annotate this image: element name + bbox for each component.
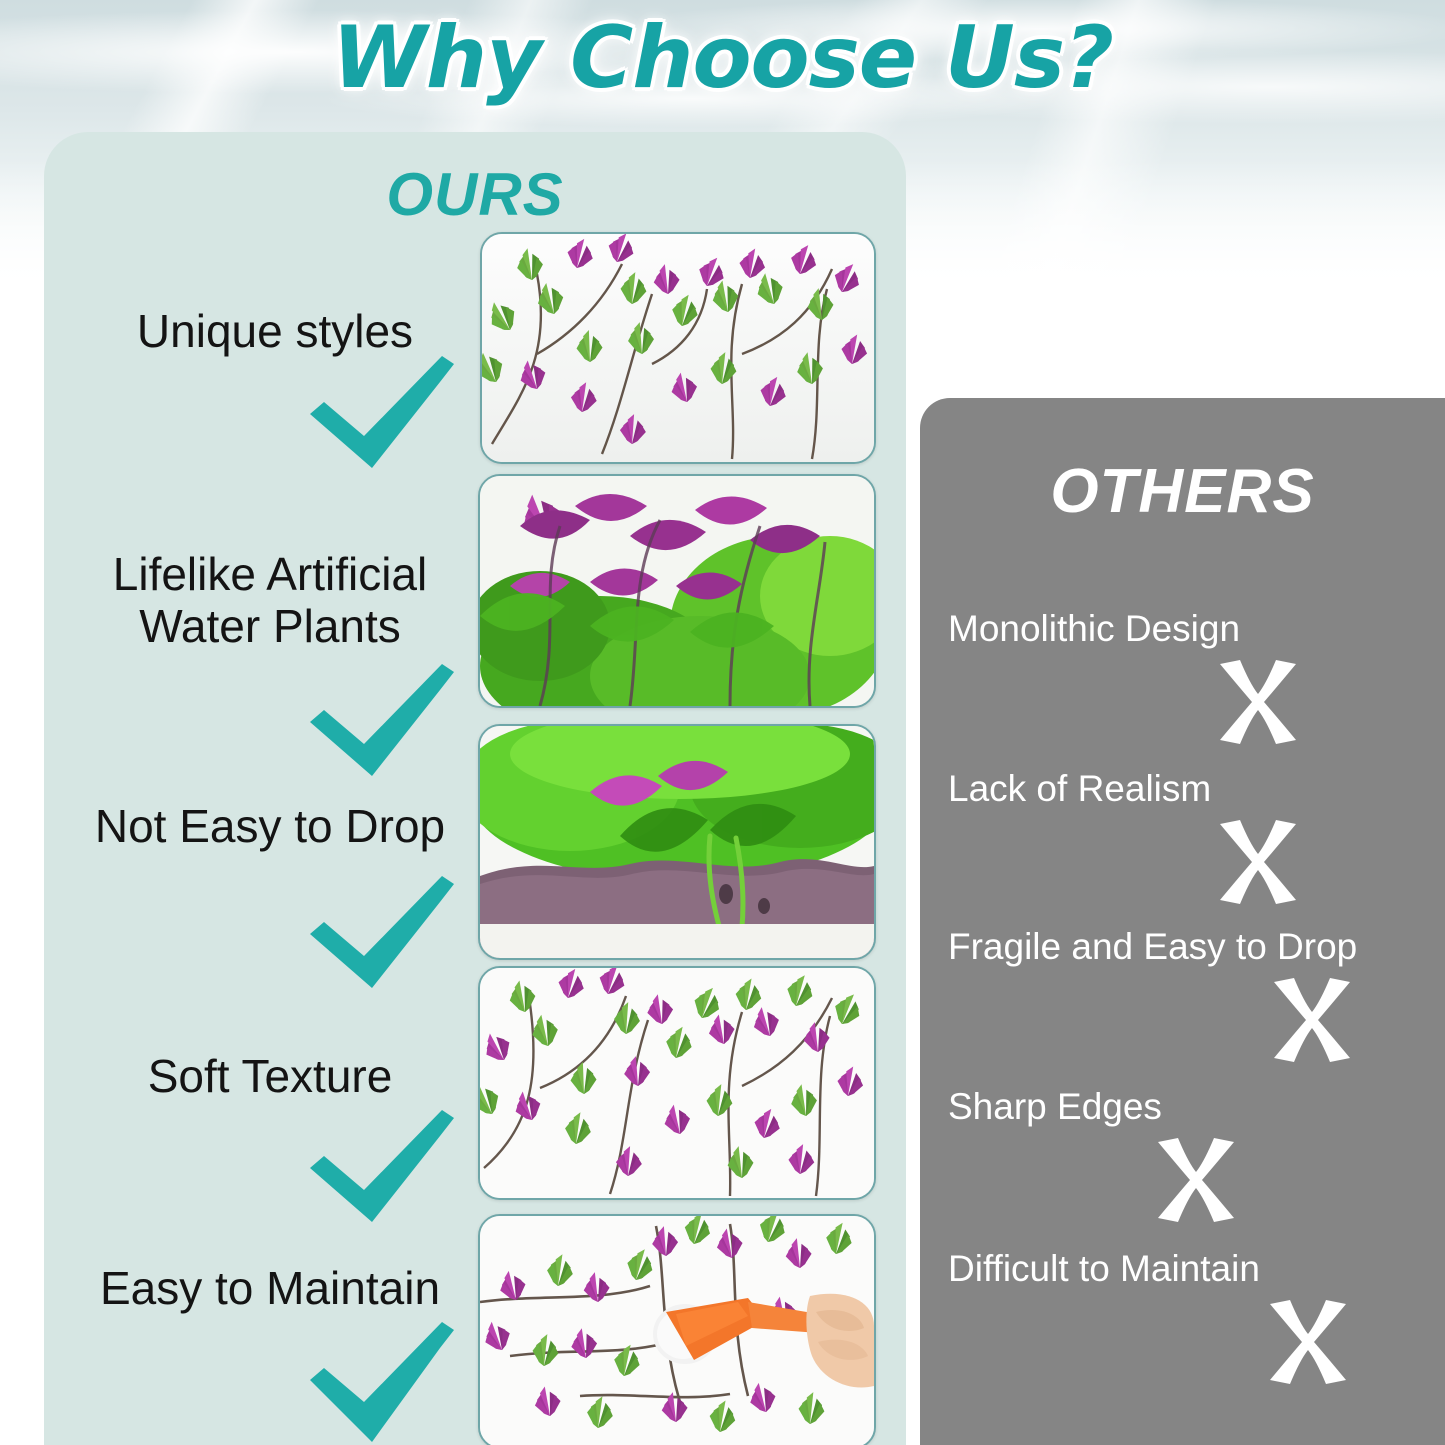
ours-photo-2 (478, 474, 876, 708)
ours-heading: OURS (44, 160, 906, 229)
others-item-label-2: Lack of Realism (948, 768, 1211, 810)
others-heading: OTHERS (920, 456, 1445, 527)
check-icon (302, 1318, 462, 1445)
check-icon (302, 1106, 462, 1226)
cross-icon (1268, 976, 1356, 1064)
ours-item-label-2: Lifelike Artificial Water Plants (60, 548, 480, 652)
cross-icon (1214, 658, 1302, 746)
ours-item-label-1: Unique styles (80, 305, 470, 357)
ours-photo-5 (478, 1214, 876, 1445)
others-item-label-1: Monolithic Design (948, 608, 1240, 650)
ours-item-label-5: Easy to Maintain (55, 1262, 485, 1314)
page-title-wrap: Why Choose Us? (0, 8, 1445, 108)
ours-photo-1 (480, 232, 876, 464)
check-icon (302, 352, 462, 472)
check-icon (302, 872, 462, 992)
cross-icon (1214, 818, 1302, 906)
check-icon (302, 660, 462, 780)
others-item-label-3: Fragile and Easy to Drop (948, 926, 1357, 968)
page-title: Why Choose Us? (332, 8, 1113, 108)
infographic-root: Why Choose Us? OURS Unique styles Lifeli… (0, 0, 1445, 1445)
ours-item-label-4: Soft Texture (60, 1050, 480, 1102)
cross-icon (1264, 1298, 1352, 1386)
ours-item-label-3: Not Easy to Drop (60, 800, 480, 852)
others-item-label-4: Sharp Edges (948, 1086, 1162, 1128)
cross-icon (1152, 1136, 1240, 1224)
ours-photo-4 (478, 966, 876, 1200)
ours-photo-3 (478, 724, 876, 960)
others-item-label-5: Difficult to Maintain (948, 1248, 1260, 1290)
